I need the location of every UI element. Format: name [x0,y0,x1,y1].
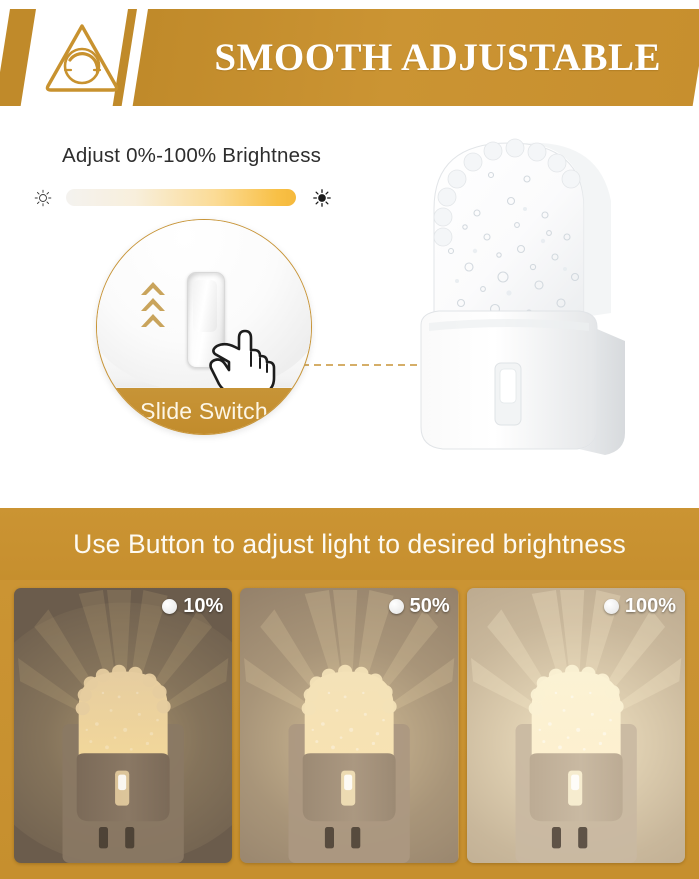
panel-scene [240,588,458,863]
brightness-panel-50[interactable]: 50% [240,588,458,863]
brightness-level-dot [162,599,177,614]
brightness-panel-10[interactable]: 10% [14,588,232,863]
slide-switch-label: Slide Switch [97,388,311,434]
panel-scene [14,588,232,863]
brightness-demo-section: Adjust 0%-100% Brightness [0,115,699,505]
brightness-slider-track[interactable] [66,189,296,206]
bubble-dome-night-light [399,117,649,487]
brightness-badge: 100% [604,595,676,618]
slide-switch-nub[interactable] [193,280,217,332]
brightness-level-dot [604,599,619,614]
brightness-slider[interactable] [28,183,348,213]
slide-switch-callout: Slide Switch [96,219,312,435]
bright-sun-icon [312,188,332,208]
brightness-level-dot [389,599,404,614]
brightness-percent-label: 100% [625,595,676,618]
page-title: SMOOTH ADJUSTABLE [0,0,699,115]
brightness-comparison-panels: 10% 50% 100% [0,580,699,879]
brightness-panel-100[interactable]: 100% [467,588,685,863]
brightness-percent-label: 50% [410,595,450,618]
header-banner: SMOOTH ADJUSTABLE [0,0,699,115]
brightness-badge: 10% [162,595,223,618]
brightness-badge: 50% [389,595,450,618]
brightness-percent-label: 10% [183,595,223,618]
adjust-brightness-label: Adjust 0%-100% Brightness [62,144,321,168]
small-sun-icon [33,188,53,208]
panel-scene [467,588,685,863]
brightness-instruction-banner: Use Button to adjust light to desired br… [0,508,699,580]
